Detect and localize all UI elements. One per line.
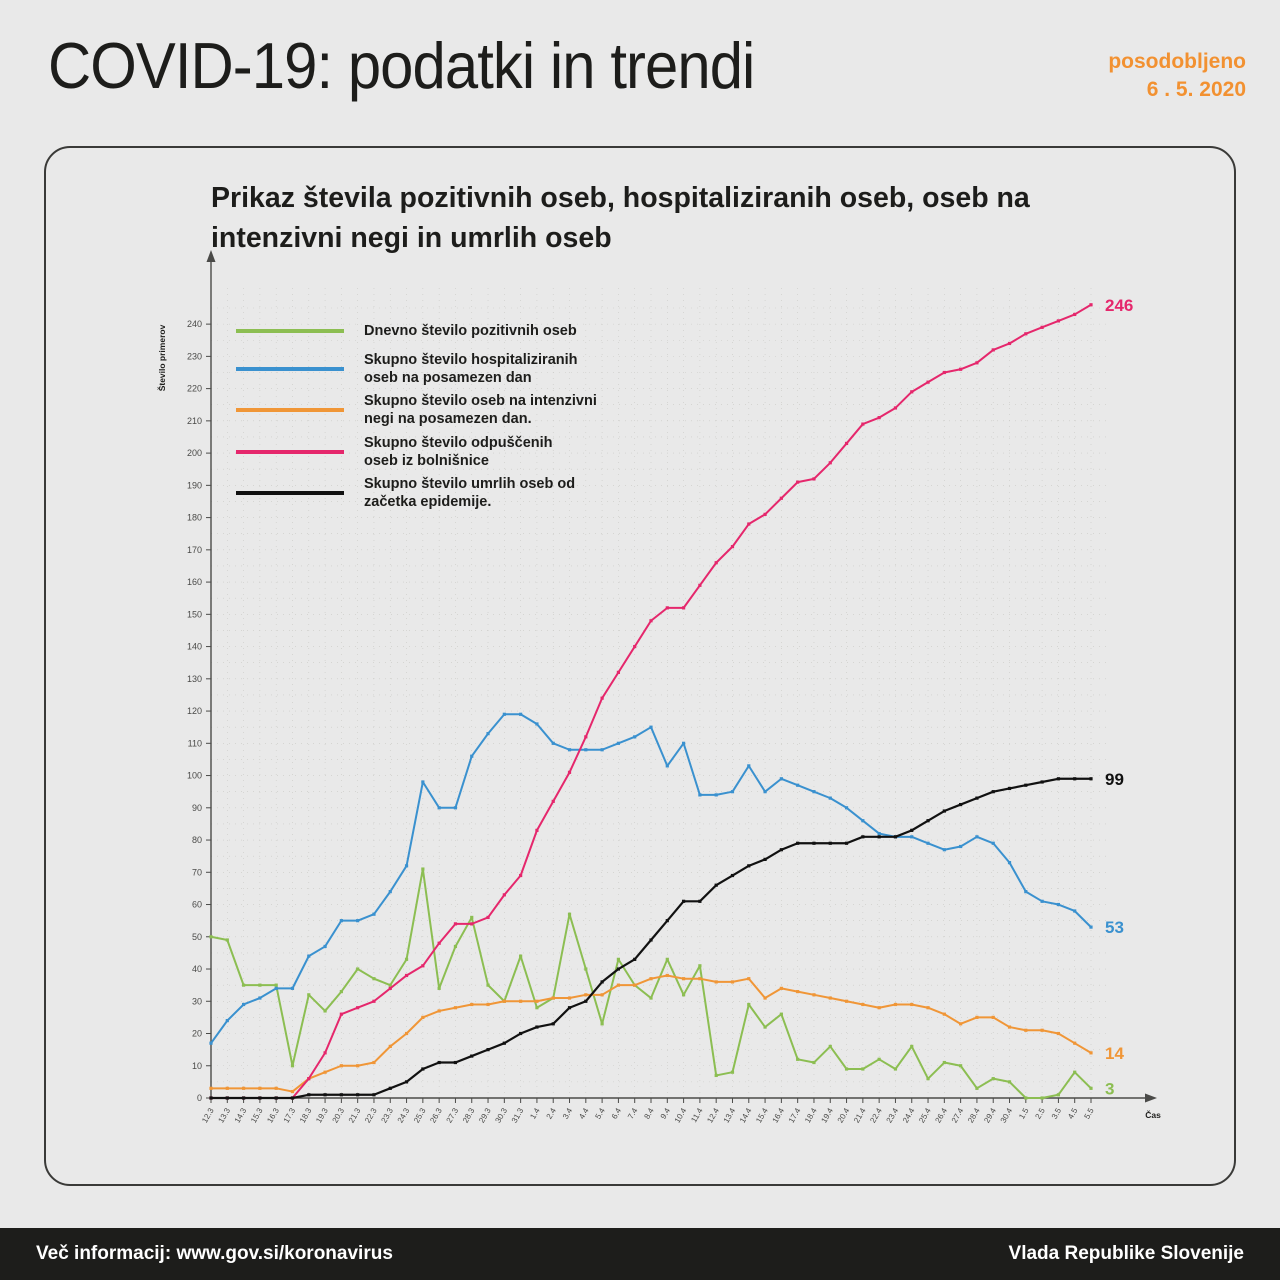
x-axis-tick-label: 16.3 [265,1106,281,1124]
series-point-marker [878,416,881,419]
x-axis-tick-label: 19.3 [314,1106,330,1124]
series-point-marker [1041,900,1044,903]
series-point-marker [601,980,604,983]
y-axis-title: Število primerov [156,324,167,391]
y-axis-tick-label: 110 [188,738,202,748]
series-point-marker [1057,1093,1060,1096]
series-point-marker [356,967,359,970]
series-point-marker [568,996,571,999]
series-point-marker [845,842,848,845]
series-point-marker [731,980,734,983]
series-point-marker [535,1025,538,1028]
series-point-marker [323,1071,326,1074]
series-point-marker [878,835,881,838]
series-point-marker [1024,1029,1027,1032]
x-axis-tick-label: 2.5 [1033,1106,1047,1121]
y-axis-tick-label: 240 [187,319,202,329]
series-point-marker [617,967,620,970]
x-axis-tick-label: 1.5 [1017,1106,1031,1121]
series-point-marker [861,1003,864,1006]
x-axis-tick-label: 10.4 [673,1106,689,1124]
series-point-marker [910,390,913,393]
series-point-marker [584,967,587,970]
series-point-marker [1041,326,1044,329]
series-point-marker [812,842,815,845]
series-point-marker [649,726,652,729]
chart-plot-area: 0102030405060708090100110120130140150160… [46,148,1238,1188]
series-point-marker [389,1087,392,1090]
series-point-marker [389,987,392,990]
x-axis-tick-label: 16.4 [771,1106,787,1124]
series-point-marker [992,842,995,845]
series-point-marker [715,793,718,796]
page-footer: Več informacij: www.gov.si/koronavirus V… [0,1228,1280,1280]
series-point-marker [1089,1087,1092,1090]
footer-more-info-link[interactable]: Več informacij: www.gov.si/koronavirus [36,1243,393,1265]
x-axis-tick-label: 24.3 [396,1106,412,1124]
series-point-marker [747,977,750,980]
series-point-marker [503,1042,506,1045]
series-point-marker [356,1064,359,1067]
series-point-marker [878,832,881,835]
x-axis-tick-label: 15.4 [754,1106,770,1124]
series-point-marker [372,1000,375,1003]
series-point-marker [812,1061,815,1064]
legend-color-swatch [236,491,344,495]
x-axis-tick-label: 17.4 [787,1106,803,1124]
series-point-marker [454,945,457,948]
series-point-marker [780,1013,783,1016]
legend-item[interactable]: Dnevno število pozitivnih oseb [236,316,656,346]
x-axis-tick-label: 21.4 [852,1106,868,1124]
series-point-marker [1073,909,1076,912]
series-point-marker [829,1045,832,1048]
series-point-marker [845,1000,848,1003]
series-point-marker [747,1003,750,1006]
series-point-marker [258,1087,261,1090]
x-axis-tick-label: 13.4 [722,1106,738,1124]
series-point-marker [601,748,604,751]
x-axis-tick-label: 19.4 [819,1106,835,1124]
series-point-marker [617,984,620,987]
x-axis-tick-label: 30.3 [493,1106,509,1124]
series-point-marker [307,1077,310,1080]
series-point-marker [454,806,457,809]
series-point-marker [1008,787,1011,790]
series-point-marker [698,964,701,967]
series-point-marker [780,848,783,851]
series-point-marker [519,874,522,877]
series-point-marker [1008,1080,1011,1083]
series-point-marker [405,1032,408,1035]
series-point-marker [715,980,718,983]
series-point-marker [470,916,473,919]
series-point-marker [519,713,522,716]
series-point-marker [470,1003,473,1006]
y-axis-tick-label: 70 [192,867,202,877]
last-updated-label: posodobljeno [1108,48,1246,76]
x-axis-tick-label: 20.4 [836,1106,852,1124]
series-point-marker [715,561,718,564]
series-point-marker [568,748,571,751]
series-point-marker [829,996,832,999]
series-point-marker [633,984,636,987]
series-point-marker [421,780,424,783]
series-point-marker [535,1006,538,1009]
chart-legend: Dnevno število pozitivnih osebSkupno šte… [236,316,656,516]
series-point-marker [894,1067,897,1070]
series-point-marker [340,1013,343,1016]
series-point-marker [356,1093,359,1096]
y-axis-tick-label: 210 [187,416,202,426]
series-point-marker [796,842,799,845]
series-point-marker [959,1064,962,1067]
series-point-marker [438,1009,441,1012]
series-point-marker [975,361,978,364]
y-axis-tick-label: 90 [192,803,202,813]
series-point-marker [470,922,473,925]
series-point-marker [470,1054,473,1057]
series-point-marker [438,987,441,990]
x-axis-tick-label: 4.5 [1066,1106,1080,1121]
series-point-marker [796,990,799,993]
x-axis-tick-label: 4.4 [577,1106,591,1121]
y-axis-tick-label: 190 [187,480,202,490]
y-axis-tick-label: 0 [197,1093,202,1103]
y-axis-tick-label: 40 [192,964,202,974]
series-point-marker [975,1087,978,1090]
x-axis-tick-label: 9.4 [659,1106,673,1121]
series-point-marker [878,1058,881,1061]
series-point-marker [666,606,669,609]
series-point-marker [568,771,571,774]
series-point-marker [943,848,946,851]
series-point-marker [389,1045,392,1048]
x-axis-tick-label: 22.4 [868,1106,884,1124]
series-point-marker [275,1096,278,1099]
series-point-marker [356,919,359,922]
series-point-marker [649,996,652,999]
legend-item-label: Skupno število hospitaliziranih oseb na … [364,351,578,387]
series-point-marker [519,1000,522,1003]
x-axis-tick-label: 18.3 [298,1106,314,1124]
legend-item[interactable]: Skupno število odpuščenih oseb iz bolniš… [236,434,656,470]
series-point-marker [1041,780,1044,783]
series-point-marker [535,829,538,832]
series-point-marker [470,755,473,758]
x-axis-arrow [1145,1094,1157,1103]
series-point-marker [780,497,783,500]
series-point-marker [992,348,995,351]
series-point-marker [242,1087,245,1090]
series-point-marker [666,764,669,767]
series-point-marker [975,797,978,800]
series-point-marker [454,1061,457,1064]
series-point-marker [1073,1071,1076,1074]
series-point-marker [666,958,669,961]
series-point-marker [780,777,783,780]
series-point-marker [340,990,343,993]
x-axis-tick-label: 6.4 [610,1106,624,1121]
series-point-marker [959,845,962,848]
series-point-marker [633,735,636,738]
series-point-marker [649,619,652,622]
series-point-marker [454,922,457,925]
series-point-marker [552,1022,555,1025]
series-point-marker [731,1071,734,1074]
x-axis-tick-label: 14.4 [738,1106,754,1124]
series-point-marker [763,790,766,793]
series-point-marker [1024,332,1027,335]
x-axis-tick-label: 28.4 [966,1106,982,1124]
series-point-marker [421,1067,424,1070]
series-point-marker [372,913,375,916]
series-point-marker [601,993,604,996]
y-axis-tick-label: 10 [192,1061,202,1071]
x-axis-tick-label: 1.4 [528,1106,542,1121]
legend-item-label: Dnevno število pozitivnih oseb [364,322,577,340]
legend-color-swatch [236,450,344,454]
x-axis-tick-label: 22.3 [363,1106,379,1124]
series-point-marker [633,958,636,961]
y-axis-tick-label: 220 [187,384,202,394]
x-axis-tick-label: 5.4 [593,1106,607,1121]
x-axis-tick-label: 29.4 [982,1106,998,1124]
series-point-marker [926,1006,929,1009]
line-chart-svg: 0102030405060708090100110120130140150160… [46,148,1238,1188]
x-axis-tick-label: 27.3 [445,1106,461,1124]
series-point-marker [682,977,685,980]
series-point-marker [209,935,212,938]
series-point-marker [552,800,555,803]
series-point-marker [926,381,929,384]
series-point-marker [861,422,864,425]
x-axis-tick-label: 28.3 [461,1106,477,1124]
x-axis-tick-label: 29.3 [477,1106,493,1124]
series-point-marker [910,829,913,832]
legend-item-label: Skupno število umrlih oseb od začetka ep… [364,475,575,511]
legend-item-label: Skupno število oseb na intenzivni negi n… [364,392,597,428]
series-point-marker [731,874,734,877]
series-point-marker [796,481,799,484]
series-point-marker [405,974,408,977]
x-axis-tick-label: 12.3 [200,1106,216,1124]
x-axis-tick-label: 7.4 [626,1106,640,1121]
series-point-marker [389,890,392,893]
series-point-marker [747,764,750,767]
series-point-marker [552,996,555,999]
series-point-marker [584,993,587,996]
legend-item[interactable]: Skupno število hospitaliziranih oseb na … [236,351,656,387]
series-point-marker [796,784,799,787]
series-point-marker [405,1080,408,1083]
y-axis-tick-label: 80 [192,835,202,845]
series-point-marker [861,819,864,822]
series-point-marker [226,1019,229,1022]
series-point-marker [486,916,489,919]
series-point-marker [535,1000,538,1003]
series-point-marker [780,987,783,990]
x-axis-tick-label: 14.3 [233,1106,249,1124]
x-axis-tick-label: 26.3 [428,1106,444,1124]
series-point-marker [258,1096,261,1099]
y-axis-tick-label: 130 [187,674,202,684]
legend-item[interactable]: Skupno število oseb na intenzivni negi n… [236,392,656,428]
series-end-value-label: 99 [1105,770,1124,789]
series-point-marker [1073,777,1076,780]
series-point-marker [486,1048,489,1051]
series-point-marker [242,1003,245,1006]
series-point-marker [943,809,946,812]
y-axis-tick-label: 30 [192,996,202,1006]
series-point-marker [1057,777,1060,780]
series-point-marker [617,958,620,961]
x-axis-tick-label: 21.3 [347,1106,363,1124]
series-point-marker [323,945,326,948]
series-point-marker [763,858,766,861]
x-axis-tick-label: 20.3 [331,1106,347,1124]
y-axis-tick-label: 60 [192,900,202,910]
y-axis-tick-label: 180 [187,513,202,523]
series-point-marker [812,477,815,480]
series-point-marker [926,819,929,822]
series-point-marker [503,713,506,716]
series-point-marker [226,1096,229,1099]
legend-color-swatch [236,367,344,371]
series-point-marker [242,984,245,987]
series-point-marker [959,803,962,806]
series-point-marker [1057,903,1060,906]
x-axis-tick-label: 18.4 [803,1106,819,1124]
last-updated-block: posodobljeno 6 . 5. 2020 [1108,48,1246,105]
series-end-value-label: 14 [1105,1044,1124,1063]
series-point-marker [340,1093,343,1096]
x-axis-tick-label: 24.4 [901,1106,917,1124]
series-point-marker [829,842,832,845]
x-axis-tick-label: 2.4 [545,1106,559,1121]
series-point-marker [747,522,750,525]
series-point-marker [323,1009,326,1012]
series-point-marker [1089,1051,1092,1054]
series-point-marker [731,790,734,793]
series-point-marker [926,842,929,845]
series-point-marker [959,368,962,371]
series-point-marker [763,513,766,516]
series-point-marker [486,732,489,735]
series-point-marker [275,987,278,990]
series-point-marker [1057,319,1060,322]
legend-color-swatch [236,408,344,412]
series-point-marker [715,884,718,887]
series-point-marker [291,1096,294,1099]
x-axis-tick-label: 11.4 [689,1106,705,1124]
x-axis-tick-label: 31.3 [510,1106,526,1124]
series-point-marker [209,1042,212,1045]
series-point-marker [1089,777,1092,780]
series-point-marker [992,1016,995,1019]
series-point-marker [340,1064,343,1067]
x-axis-tick-label: 12.4 [705,1106,721,1124]
series-point-marker [242,1096,245,1099]
series-point-marker [845,442,848,445]
series-point-marker [568,913,571,916]
series-point-marker [275,1087,278,1090]
y-axis-tick-label: 20 [192,1029,202,1039]
series-point-marker [992,1077,995,1080]
series-point-marker [438,1061,441,1064]
series-point-marker [812,790,815,793]
series-point-marker [1073,313,1076,316]
series-point-marker [323,1051,326,1054]
x-axis-tick-label: 13.3 [216,1106,232,1124]
series-point-marker [307,1093,310,1096]
series-point-marker [910,1003,913,1006]
series-point-marker [568,1006,571,1009]
series-point-marker [878,1006,881,1009]
series-point-marker [519,955,522,958]
series-point-marker [812,993,815,996]
x-axis-tick-label: 26.4 [933,1106,949,1124]
series-point-marker [698,900,701,903]
series-point-marker [666,974,669,977]
series-point-marker [323,1093,326,1096]
y-axis-arrow [207,250,216,262]
series-point-marker [421,964,424,967]
series-point-marker [796,1058,799,1061]
series-point-marker [715,1074,718,1077]
series-point-marker [731,545,734,548]
series-point-marker [1024,890,1027,893]
y-axis-tick-label: 230 [187,351,202,361]
series-point-marker [633,645,636,648]
series-point-marker [454,1006,457,1009]
series-point-marker [682,993,685,996]
x-axis-title: Čas [1145,1109,1161,1120]
series-point-marker [926,1077,929,1080]
series-point-marker [861,835,864,838]
x-axis-tick-label: 5.5 [1082,1106,1096,1121]
series-point-marker [486,1003,489,1006]
series-point-marker [584,735,587,738]
page-title: COVID-19: podatki in trendi [48,28,754,103]
series-point-marker [209,1096,212,1099]
y-axis-tick-label: 50 [192,932,202,942]
series-point-marker [584,748,587,751]
series-point-marker [894,835,897,838]
series-point-marker [894,406,897,409]
series-point-marker [405,958,408,961]
x-axis-tick-label: 23.3 [379,1106,395,1124]
series-point-marker [910,1045,913,1048]
series-point-marker [535,722,538,725]
y-axis-tick-label: 150 [187,609,202,619]
series-point-marker [503,893,506,896]
legend-item[interactable]: Skupno število umrlih oseb od začetka ep… [236,475,656,511]
series-point-marker [1024,784,1027,787]
y-axis-tick-label: 200 [187,448,202,458]
series-point-marker [894,1003,897,1006]
series-point-marker [959,1022,962,1025]
x-axis-tick-label: 3.5 [1050,1106,1064,1121]
series-point-marker [975,1016,978,1019]
y-axis-tick-label: 120 [187,706,202,716]
series-point-marker [421,867,424,870]
series-point-marker [258,996,261,999]
series-point-marker [682,900,685,903]
series-point-marker [601,1022,604,1025]
series-end-value-label: 246 [1105,296,1133,315]
series-point-marker [649,977,652,980]
